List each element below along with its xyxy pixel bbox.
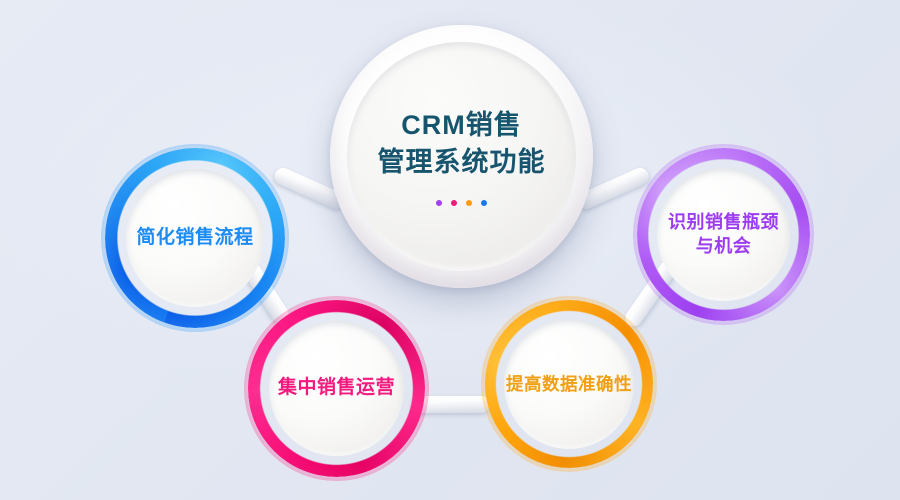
node-identify-bottlenecks-opportunities[interactable]: 识别销售瓶颈 与机会	[637, 148, 810, 321]
center-dots	[436, 200, 487, 206]
orange-node-label: 提高数据准确性	[506, 373, 632, 395]
center-hub[interactable]: CRM销售 管理系统功能	[330, 25, 593, 288]
blue-node-face: 简化销售流程	[126, 169, 264, 307]
center-title: CRM销售 管理系统功能	[378, 107, 546, 179]
node-simplify-sales-process[interactable]: 简化销售流程	[105, 148, 285, 328]
node-centralize-sales-operations[interactable]: 集中销售运营	[248, 300, 425, 477]
node-improve-data-accuracy[interactable]: 提高数据准确性	[485, 300, 653, 468]
pink-node-face: 集中销售运营	[269, 321, 404, 456]
blue-node-label: 简化销售流程	[136, 226, 253, 250]
purple-node-face: 识别销售瓶颈 与机会	[657, 168, 790, 301]
dot-purple	[436, 200, 442, 206]
dot-pink	[451, 200, 457, 206]
purple-node-label: 识别销售瓶颈 与机会	[668, 211, 779, 257]
orange-node-face: 提高数据准确性	[504, 319, 634, 449]
diagram-canvas: 简化销售流程 集中销售运营 提高数据准确性 识别销售瓶颈 与机会 CRM销售 管…	[0, 0, 900, 500]
pink-node-label: 集中销售运营	[278, 376, 395, 400]
dot-blue	[481, 200, 487, 206]
center-hub-face: CRM销售 管理系统功能	[347, 42, 576, 271]
dot-orange	[466, 200, 472, 206]
